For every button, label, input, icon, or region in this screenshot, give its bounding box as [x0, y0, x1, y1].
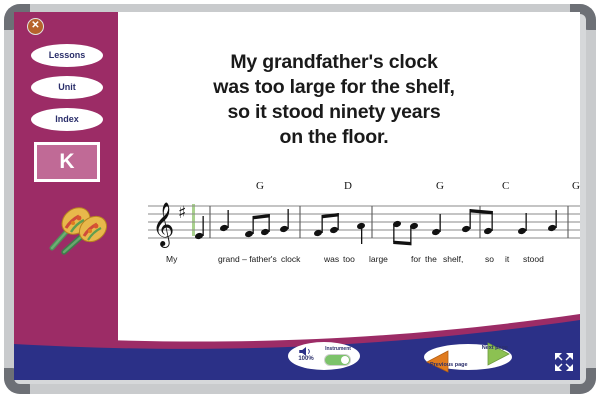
fullscreen-arrows-icon [554, 352, 574, 372]
lyric-word: the [425, 254, 437, 264]
lyrics-line-2: was too large for the shelf, [118, 75, 550, 100]
chord-symbol: G [436, 180, 444, 192]
chord-symbol: G [256, 180, 264, 192]
lyric-word: stood [523, 254, 544, 264]
lyric-word: clock [281, 254, 300, 264]
previous-page-button[interactable]: Previous page [430, 362, 468, 368]
next-page-button[interactable]: Next page [482, 345, 508, 351]
lyrics-line-3: so it stood ninety years [118, 100, 550, 125]
lyric-word: was [324, 254, 339, 264]
level-badge-k[interactable]: K [34, 142, 100, 182]
sidebar-item-unit[interactable]: Unit [31, 76, 103, 99]
app-root: ✕ Lessons Unit Index K [0, 0, 600, 400]
lyric-word: My [166, 254, 177, 264]
volume-percent: 100% [293, 356, 319, 362]
lyric-word: large [369, 254, 388, 264]
instrument-control[interactable]: 100% Instrument [288, 342, 360, 370]
lyrics-line-1: My grandfather's clock [118, 50, 550, 75]
lyric-word: grand – father's [218, 254, 277, 264]
lyric-word: so [485, 254, 494, 264]
svg-text:♯: ♯ [178, 203, 186, 223]
maracas-icon [38, 190, 114, 256]
lyrics-line-4: on the floor. [118, 125, 550, 150]
fullscreen-icon[interactable] [554, 352, 574, 372]
lyric-word: shelf, [443, 254, 463, 264]
svg-text:𝄞: 𝄞 [152, 202, 174, 248]
page-title: My grandfather's clock was too large for… [118, 50, 550, 150]
chord-symbol: D [344, 180, 352, 192]
bottom-toolbar: 100% Instrument Next page Previous page [14, 314, 580, 380]
instrument-label: Instrument [320, 346, 356, 352]
staff-notation: 𝄞 ♯ [148, 196, 580, 256]
lyric-word: for [411, 254, 421, 264]
close-icon[interactable]: ✕ [27, 18, 44, 35]
lyric-word: too [343, 254, 355, 264]
app-stage: ✕ Lessons Unit Index K [14, 12, 580, 380]
lyric-row: My grand – father's clock was too large … [148, 254, 580, 270]
music-score[interactable]: G D G C G [148, 180, 580, 280]
sidebar-item-lessons[interactable]: Lessons [31, 44, 103, 67]
instrument-toggle[interactable] [324, 354, 351, 366]
chord-symbol: C [502, 180, 509, 192]
lyric-word: it [505, 254, 509, 264]
sidebar-item-index[interactable]: Index [31, 108, 103, 131]
chord-symbol: G [572, 180, 580, 192]
page-navigation[interactable]: Next page Previous page [412, 340, 524, 374]
